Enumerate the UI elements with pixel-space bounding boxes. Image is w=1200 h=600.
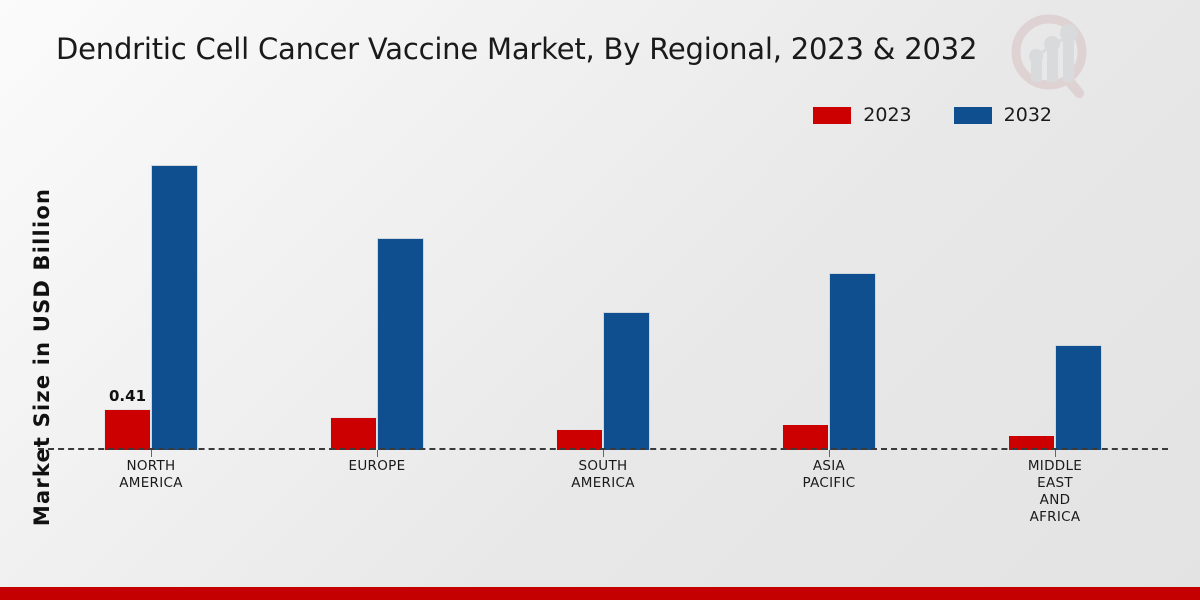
x-axis-category-labels: NORTHAMERICA EUROPE SOUTHAMERICA ASIAPAC… bbox=[38, 458, 1168, 526]
axis-tick bbox=[151, 450, 152, 457]
legend-label-2023: 2023 bbox=[863, 104, 911, 126]
legend-swatch-2032 bbox=[954, 107, 992, 124]
category-label-north-america: NORTHAMERICA bbox=[38, 458, 264, 526]
category-label-line: SOUTH bbox=[490, 458, 716, 475]
legend-item-2023[interactable]: 2023 bbox=[813, 104, 911, 126]
chart-legend: 2023 2032 bbox=[813, 104, 1052, 126]
bar-middle-east-and-africa-2032[interactable] bbox=[1055, 345, 1102, 450]
category-label-line: AFRICA bbox=[942, 509, 1168, 526]
plot-area: 0.41 bbox=[38, 150, 1168, 450]
category-label-europe: EUROPE bbox=[264, 458, 490, 526]
bottom-accent-strip bbox=[0, 587, 1200, 600]
axis-tick bbox=[603, 450, 604, 457]
x-axis-baseline bbox=[38, 448, 1168, 450]
bar-group-asia-pacific bbox=[716, 150, 942, 450]
category-label-line: EAST bbox=[942, 475, 1168, 492]
bar-group-south-america bbox=[490, 150, 716, 450]
legend-swatch-2023 bbox=[813, 107, 851, 124]
bar-group-middle-east-and-africa bbox=[942, 150, 1168, 450]
chart-canvas: Dendritic Cell Cancer Vaccine Market, By… bbox=[0, 0, 1200, 600]
category-label-line: AMERICA bbox=[490, 475, 716, 492]
bar-south-america-2032[interactable] bbox=[603, 312, 650, 450]
bar-south-america-2023[interactable] bbox=[556, 429, 603, 450]
bar-north-america-2023[interactable]: 0.41 bbox=[104, 409, 151, 450]
chart-title: Dendritic Cell Cancer Vaccine Market, By… bbox=[56, 32, 977, 66]
category-label-middle-east-and-africa: MIDDLEEASTANDAFRICA bbox=[942, 458, 1168, 526]
bar-europe-2023[interactable] bbox=[330, 417, 377, 450]
bar-group-north-america: 0.41 bbox=[38, 150, 264, 450]
category-label-line: ASIA bbox=[716, 458, 942, 475]
category-label-line: MIDDLE bbox=[942, 458, 1168, 475]
category-label-line: AND bbox=[942, 492, 1168, 509]
bar-asia-pacific-2023[interactable] bbox=[782, 424, 829, 450]
category-label-south-america: SOUTHAMERICA bbox=[490, 458, 716, 526]
category-label-line: PACIFIC bbox=[716, 475, 942, 492]
category-label-line: NORTH bbox=[38, 458, 264, 475]
bar-europe-2032[interactable] bbox=[377, 238, 424, 450]
bar-north-america-2032[interactable] bbox=[151, 165, 198, 450]
legend-label-2032: 2032 bbox=[1004, 104, 1052, 126]
bar-groups: 0.41 bbox=[38, 150, 1168, 450]
category-label-asia-pacific: ASIAPACIFIC bbox=[716, 458, 942, 526]
axis-tick bbox=[1055, 450, 1056, 457]
axis-tick bbox=[377, 450, 378, 457]
bar-group-europe bbox=[264, 150, 490, 450]
category-label-line: AMERICA bbox=[38, 475, 264, 492]
bar-data-label-north-america-2023: 0.41 bbox=[109, 387, 146, 405]
category-label-line: EUROPE bbox=[264, 458, 490, 475]
watermark-logo-icon bbox=[1003, 8, 1103, 108]
legend-item-2032[interactable]: 2032 bbox=[954, 104, 1052, 126]
bar-asia-pacific-2032[interactable] bbox=[829, 273, 876, 450]
axis-tick bbox=[829, 450, 830, 457]
